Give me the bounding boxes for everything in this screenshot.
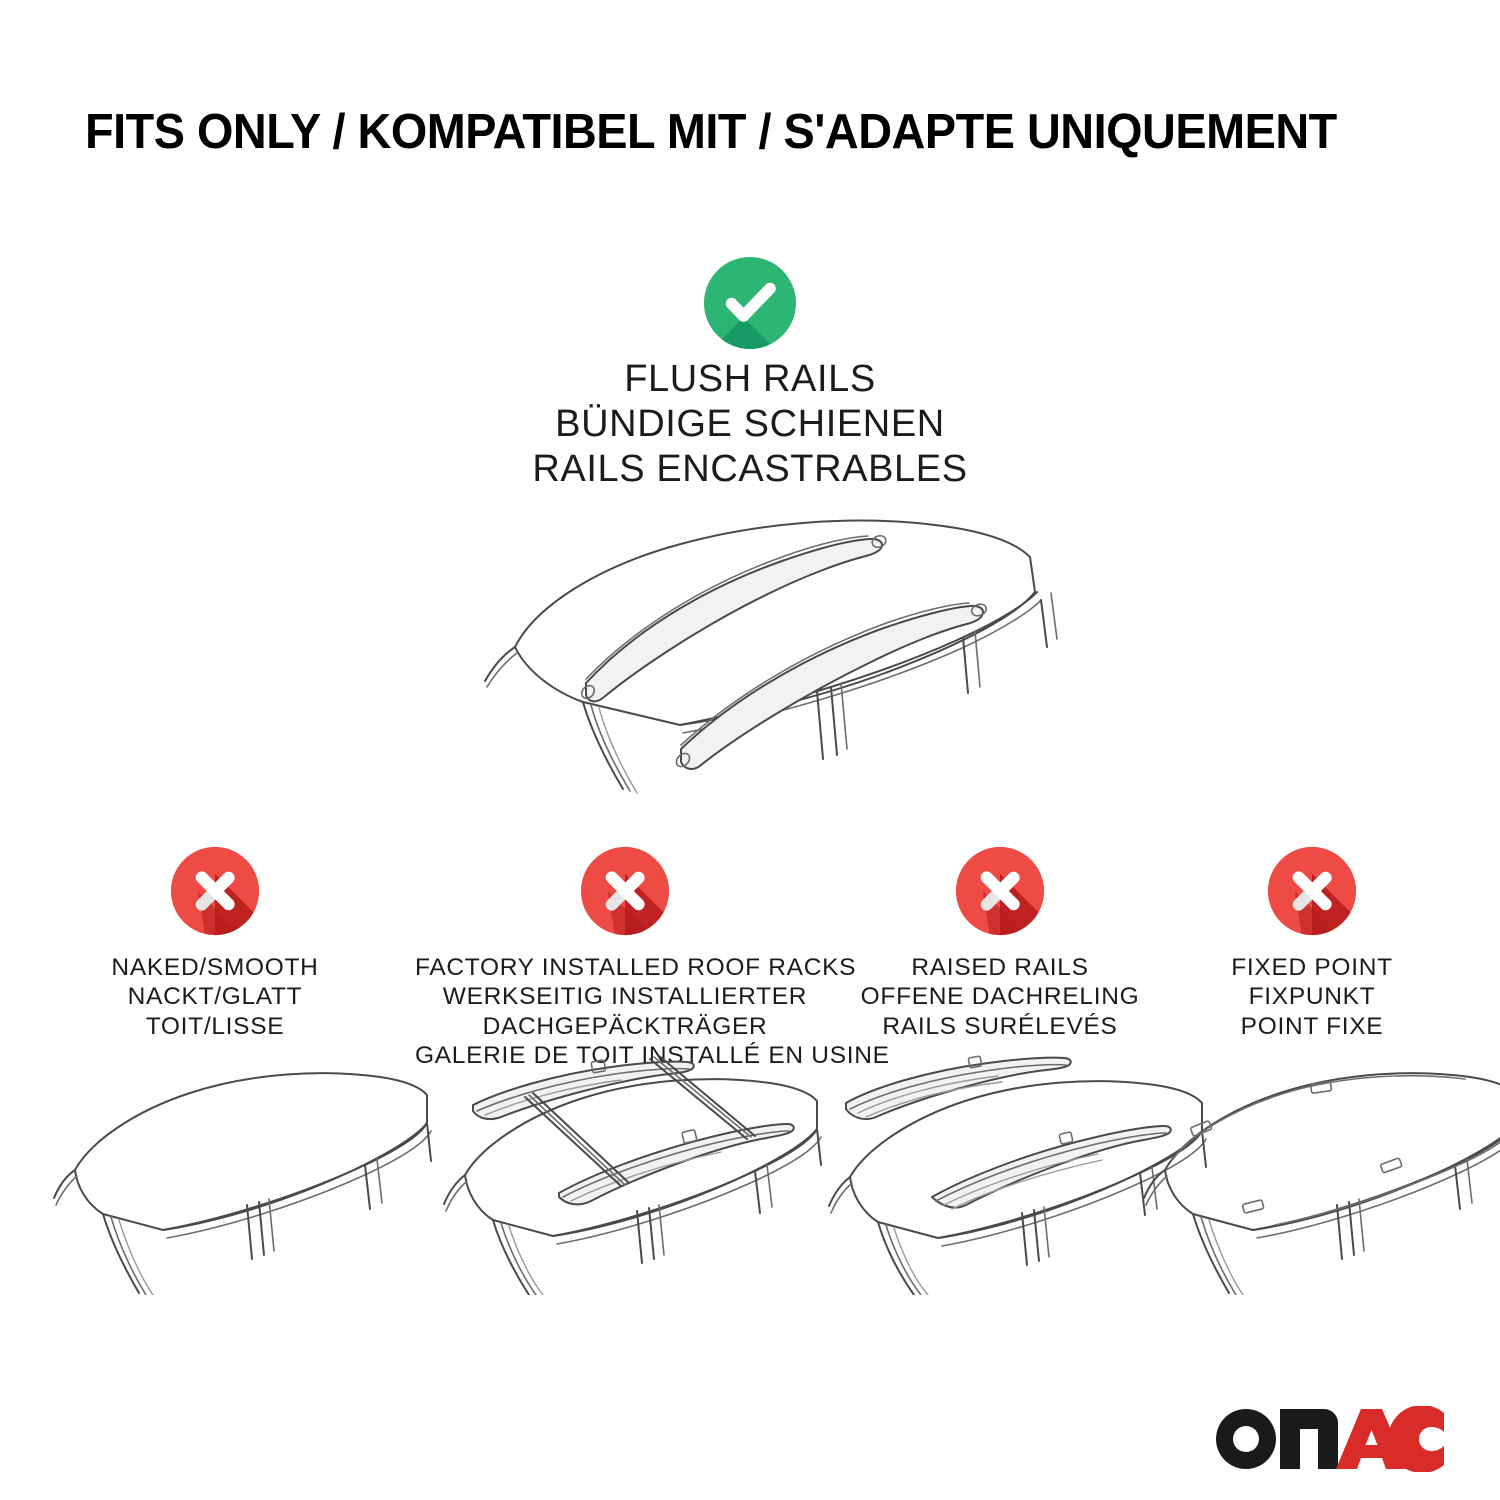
label-line-0: FACTORY INSTALLED ROOF RACKS: [415, 953, 835, 982]
label-line-0: NAKED/SMOOTH: [5, 953, 425, 982]
cross-circle-icon: [1266, 845, 1358, 937]
compatible-label-de: BÜNDIGE SCHIENEN: [0, 402, 1500, 447]
logo-letter-o: [1216, 1409, 1276, 1469]
car-roof-factory-roof-racks-illustration: [425, 1055, 825, 1295]
roof-crossbar-rear: [650, 1055, 755, 1139]
raised-rail-far: [846, 1056, 1071, 1119]
label-line-1: FIXPUNKT: [1102, 982, 1500, 1011]
car-roof-naked-smooth-illustration: [35, 1055, 435, 1295]
compatible-label-en: FLUSH RAILS: [0, 357, 1500, 402]
compatible-label-fr: RAILS ENCASTRABLES: [0, 447, 1500, 492]
label-line-1: NACKT/GLATT: [5, 982, 425, 1011]
cross-badge-wrap: [5, 845, 425, 953]
brand-logo-omac: [1212, 1406, 1444, 1472]
cross-badge-wrap: [1102, 845, 1500, 953]
check-badge-wrap: [0, 255, 1500, 341]
car-roof-fixed-point-illustration: [1125, 1055, 1500, 1295]
cross-circle-icon: [579, 845, 671, 937]
compatible-section: FLUSH RAILS BÜNDIGE SCHIENEN RAILS ENCAS…: [0, 255, 1500, 493]
incompatible-column-naked-smooth: NAKED/SMOOTH NACKT/GLATT TOIT/LISSE: [5, 845, 425, 1041]
label-line-2: POINT FIXE: [1102, 1012, 1500, 1041]
label-line-0: FIXED POINT: [1102, 953, 1500, 982]
incompatible-column-fixed-point: FIXED POINT FIXPUNKT POINT FIXE: [1102, 845, 1500, 1041]
fixed-point-markers: [1190, 1082, 1402, 1214]
incompatible-labels: FACTORY INSTALLED ROOF RACKS WERKSEITIG …: [415, 953, 835, 1071]
label-line-2: DACHGEPÄCKTRÄGER: [415, 1012, 835, 1041]
incompatible-labels: FIXED POINT FIXPUNKT POINT FIXE: [1102, 953, 1500, 1041]
label-line-2: TOIT/LISSE: [5, 1012, 425, 1041]
cross-circle-icon: [169, 845, 261, 937]
car-roof-flush-rails-illustration: [455, 497, 1075, 797]
check-circle-icon: [702, 255, 798, 351]
logo-letter-m: [1280, 1409, 1338, 1469]
label-line-1: WERKSEITIG INSTALLIERTER: [415, 982, 835, 1011]
cross-badge-wrap: [415, 845, 835, 953]
page-title: FITS ONLY / KOMPATIBEL MIT / S'ADAPTE UN…: [85, 107, 1365, 158]
incompatible-column-factory-roof-racks: FACTORY INSTALLED ROOF RACKS WERKSEITIG …: [415, 845, 835, 1071]
flush-rail-near: [674, 602, 988, 769]
incompatible-labels: NAKED/SMOOTH NACKT/GLATT TOIT/LISSE: [5, 953, 425, 1041]
cross-circle-icon: [954, 845, 1046, 937]
compatible-labels: FLUSH RAILS BÜNDIGE SCHIENEN RAILS ENCAS…: [0, 357, 1500, 493]
